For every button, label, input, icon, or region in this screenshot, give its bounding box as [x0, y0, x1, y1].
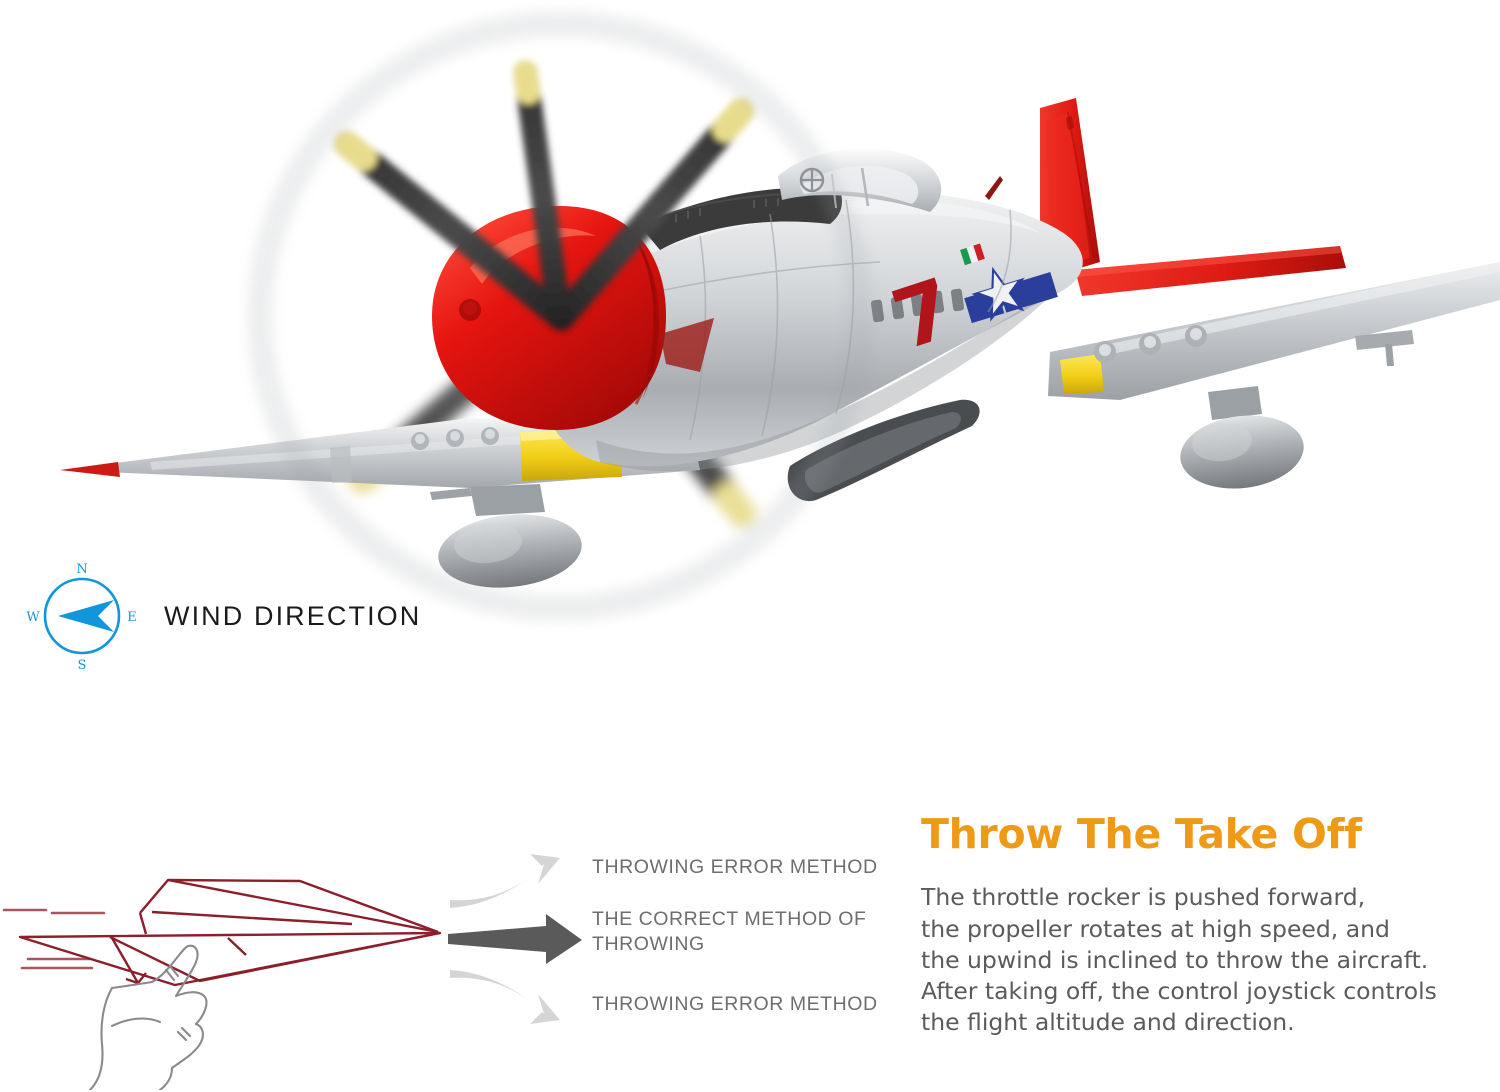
- compass-label-e: E: [127, 610, 137, 625]
- copy-title: Throw The Take Off: [921, 812, 1491, 856]
- throw-method-label-list: THROWING ERROR METHOD THE CORRECT METHOD…: [592, 855, 892, 1017]
- hero-section: 7: [0, 0, 1500, 720]
- compass-arrow-west: [58, 600, 114, 632]
- throw-method-label-3: THROWING ERROR METHOD: [592, 992, 892, 1017]
- wind-direction-badge: N E S W WIND DIRECTION: [22, 556, 421, 676]
- infographic-page: 7: [0, 0, 1500, 1092]
- right-wing-yellow-band: [1060, 354, 1104, 394]
- straight-right-arrow: [448, 914, 582, 964]
- curved-up-arrow: [450, 854, 560, 908]
- hand-outline: [90, 946, 206, 1090]
- compass-label-w: W: [26, 610, 40, 625]
- throw-method-arrows: [448, 848, 593, 1033]
- speed-lines: [4, 910, 104, 968]
- compass-label-n: N: [76, 562, 87, 577]
- hand-throwing-paper-airplane-diagram: [0, 840, 470, 1090]
- curved-down-arrow: [450, 970, 560, 1024]
- compass-icon: N E S W: [22, 556, 142, 676]
- copy-body: The throttle rocker is pushed forward, t…: [921, 882, 1491, 1038]
- throw-method-label-1: THROWING ERROR METHOD: [592, 855, 892, 880]
- wind-direction-label: WIND DIRECTION: [164, 601, 421, 632]
- copy-block: Throw The Take Off The throttle rocker i…: [921, 812, 1491, 1039]
- bottom-section: THROWING ERROR METHOD THE CORRECT METHOD…: [0, 770, 1500, 1092]
- throw-method-label-2: THE CORRECT METHOD OF THROWING: [592, 907, 892, 957]
- compass-label-s: S: [78, 658, 87, 673]
